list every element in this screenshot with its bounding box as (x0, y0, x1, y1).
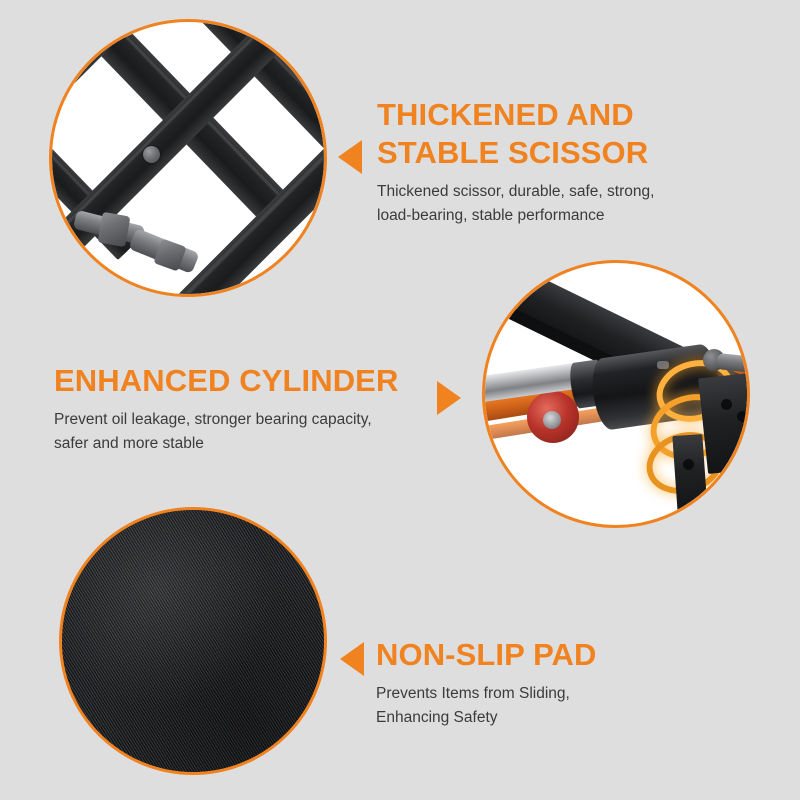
cylinder-mount-leg (672, 434, 707, 514)
feature-title-pad: NON-SLIP PAD (376, 636, 776, 674)
feature-title-cylinder: ENHANCED CYLINDER (54, 362, 454, 400)
infographic-canvas: THICKENED AND STABLE SCISSOR Thickened s… (0, 0, 800, 800)
cylinder-plate-hole-2 (737, 411, 747, 422)
non-slip-pad-shading (62, 510, 324, 772)
cylinder-body-port (657, 361, 669, 369)
feature-description-scissor: Thickened scissor, durable, safe, strong… (377, 180, 777, 228)
scissor-mechanism-photo (49, 19, 327, 297)
scissor-hex-bolt (98, 212, 131, 247)
cylinder-mount-plate (698, 372, 747, 474)
cylinder-leg-hole (683, 459, 694, 470)
hydraulic-cylinder-photo (482, 260, 750, 528)
non-slip-pad-photo (59, 507, 327, 775)
feature-description-pad: Prevents Items from Sliding, Enhancing S… (376, 682, 776, 730)
feature-block-cylinder: ENHANCED CYLINDER Prevent oil leakage, s… (54, 362, 454, 456)
scissor-pivot-rivet (143, 146, 160, 163)
cylinder-caster-hub (543, 411, 561, 429)
arrow-left-icon (340, 642, 364, 676)
cylinder-plate-hole-1 (721, 399, 732, 410)
feature-description-cylinder: Prevent oil leakage, stronger bearing ca… (54, 408, 454, 456)
scissor-photo-inner (52, 22, 324, 294)
cylinder-photo-inner (485, 263, 747, 525)
feature-block-scissor: THICKENED AND STABLE SCISSOR Thickened s… (377, 96, 777, 228)
feature-title-scissor: THICKENED AND STABLE SCISSOR (377, 96, 777, 172)
arrow-left-icon (338, 140, 362, 174)
feature-block-pad: NON-SLIP PAD Prevents Items from Sliding… (376, 636, 776, 730)
